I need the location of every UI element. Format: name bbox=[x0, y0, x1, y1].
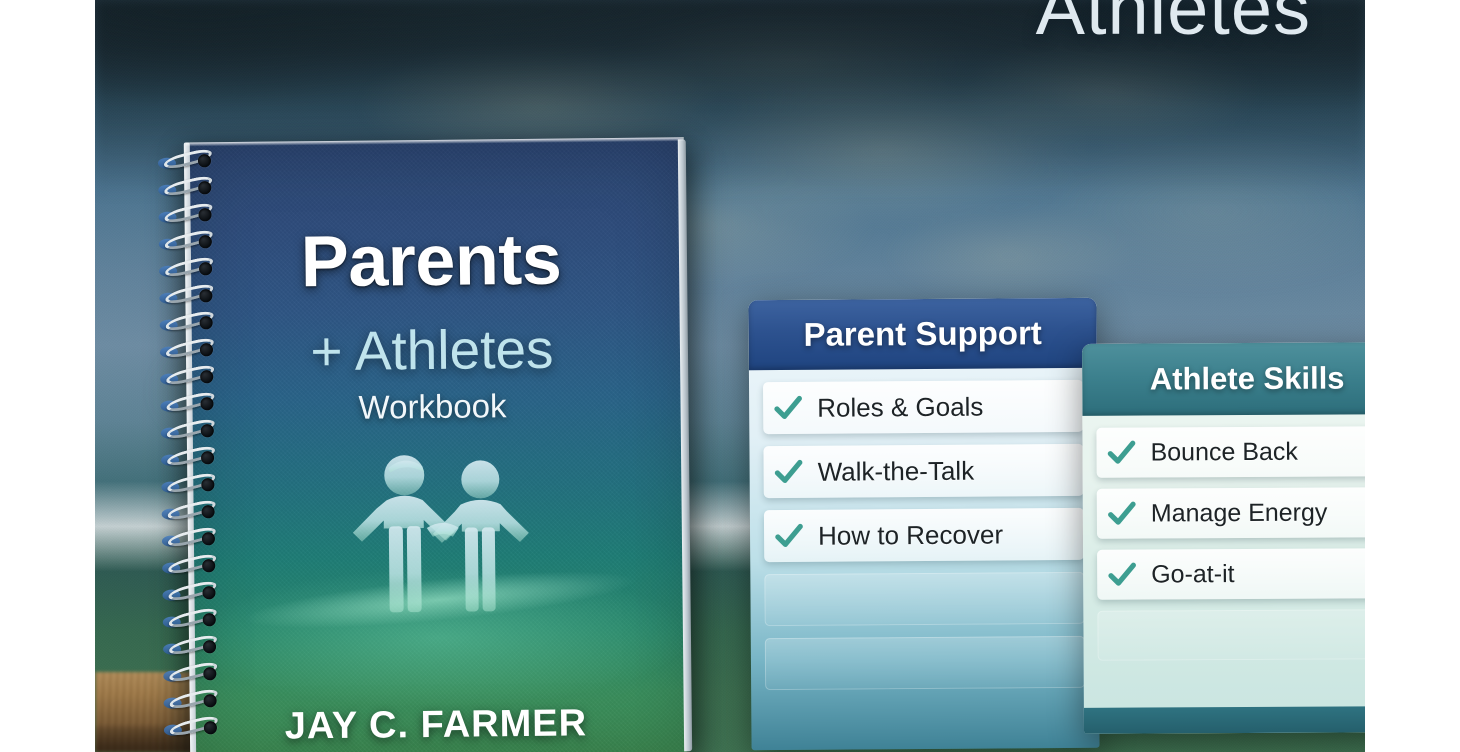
spiral-coil bbox=[162, 501, 220, 523]
checkmark-icon bbox=[1107, 560, 1137, 590]
cover-typography: Parents + Athletes Workbook bbox=[186, 137, 690, 752]
checklist-item-empty[interactable] bbox=[765, 636, 1085, 690]
card-parent-support[interactable]: Parent Support Roles & GoalsWalk-the-Tal… bbox=[748, 298, 1099, 750]
spiral-coil bbox=[159, 231, 217, 253]
spiral-coil bbox=[164, 717, 222, 739]
scene-photo: Athletes Parents + Athletes Workbook bbox=[95, 0, 1365, 752]
card-athlete-skills-title: Athlete Skills bbox=[1150, 360, 1345, 397]
checklist-item[interactable]: How to Recover bbox=[764, 508, 1084, 562]
checkmark-icon bbox=[1106, 438, 1136, 468]
card-parent-support-title: Parent Support bbox=[803, 314, 1042, 354]
cover-subtitle: + Athletes bbox=[188, 315, 677, 384]
left-page-margin bbox=[0, 0, 95, 752]
spiral-coil bbox=[162, 555, 220, 577]
spiral-coil bbox=[162, 528, 220, 550]
card-athlete-skills-header: Athlete Skills bbox=[1082, 342, 1365, 416]
checklist-item-empty[interactable] bbox=[764, 572, 1084, 626]
spiral-coil bbox=[159, 258, 217, 280]
spiral-coil bbox=[160, 312, 218, 334]
checklist-item-label: Roles & Goals bbox=[817, 391, 983, 423]
checklist-item-label: Go-at-it bbox=[1151, 560, 1235, 589]
card-parent-support-list: Roles & GoalsWalk-the-TalkHow to Recover bbox=[749, 368, 1099, 690]
poster-canvas: Athletes Parents + Athletes Workbook bbox=[0, 0, 1460, 752]
right-page-margin bbox=[1365, 0, 1460, 752]
card-parent-support-header: Parent Support bbox=[748, 298, 1096, 370]
spiral-coil bbox=[164, 690, 222, 712]
spiral-coil bbox=[161, 447, 219, 469]
checklist-item[interactable]: Bounce Back bbox=[1096, 426, 1365, 478]
checklist-item-label: How to Recover bbox=[818, 519, 1003, 551]
spiral-workbook: Parents + Athletes Workbook bbox=[158, 137, 694, 752]
checkmark-icon bbox=[773, 393, 803, 423]
checklist-item[interactable]: Roles & Goals bbox=[763, 380, 1083, 434]
card-athlete-skills-footer bbox=[1084, 706, 1365, 734]
checkmark-icon bbox=[774, 457, 804, 487]
headline-word: Athletes bbox=[1036, 0, 1311, 51]
checklist-item-label: Bounce Back bbox=[1150, 437, 1297, 467]
spiral-coil bbox=[163, 636, 221, 658]
checkmark-icon bbox=[774, 521, 804, 551]
spiral-binding bbox=[158, 150, 226, 752]
checklist-item-label: Manage Energy bbox=[1151, 498, 1328, 528]
spiral-coil bbox=[163, 663, 221, 685]
checklist-item[interactable]: Walk-the-Talk bbox=[763, 444, 1083, 498]
spiral-coil bbox=[158, 177, 216, 199]
card-athlete-skills[interactable]: Athlete Skills Bounce BackManage EnergyG… bbox=[1082, 342, 1365, 734]
checklist-item-empty[interactable] bbox=[1097, 609, 1365, 661]
cover-kind-label: Workbook bbox=[188, 385, 676, 428]
spiral-coil bbox=[163, 609, 221, 631]
spiral-coil bbox=[162, 582, 220, 604]
checkmark-icon bbox=[1107, 499, 1137, 529]
cover-author: JAY C. FARMER bbox=[192, 701, 680, 749]
spiral-coil bbox=[160, 393, 218, 415]
cover-title: Parents bbox=[187, 217, 676, 304]
spiral-coil bbox=[161, 474, 219, 496]
spiral-coil bbox=[161, 420, 219, 442]
card-athlete-skills-list: Bounce BackManage EnergyGo-at-it bbox=[1082, 414, 1365, 661]
spiral-coil bbox=[160, 339, 218, 361]
checklist-item[interactable]: Go-at-it bbox=[1097, 548, 1365, 600]
two-people-figures-icon bbox=[342, 439, 544, 641]
spiral-coil bbox=[160, 366, 218, 388]
checklist-item-label: Walk-the-Talk bbox=[818, 455, 975, 487]
spiral-coil bbox=[158, 204, 216, 226]
checklist-item[interactable]: Manage Energy bbox=[1097, 487, 1365, 539]
spiral-coil bbox=[158, 150, 216, 172]
spiral-coil bbox=[159, 285, 217, 307]
